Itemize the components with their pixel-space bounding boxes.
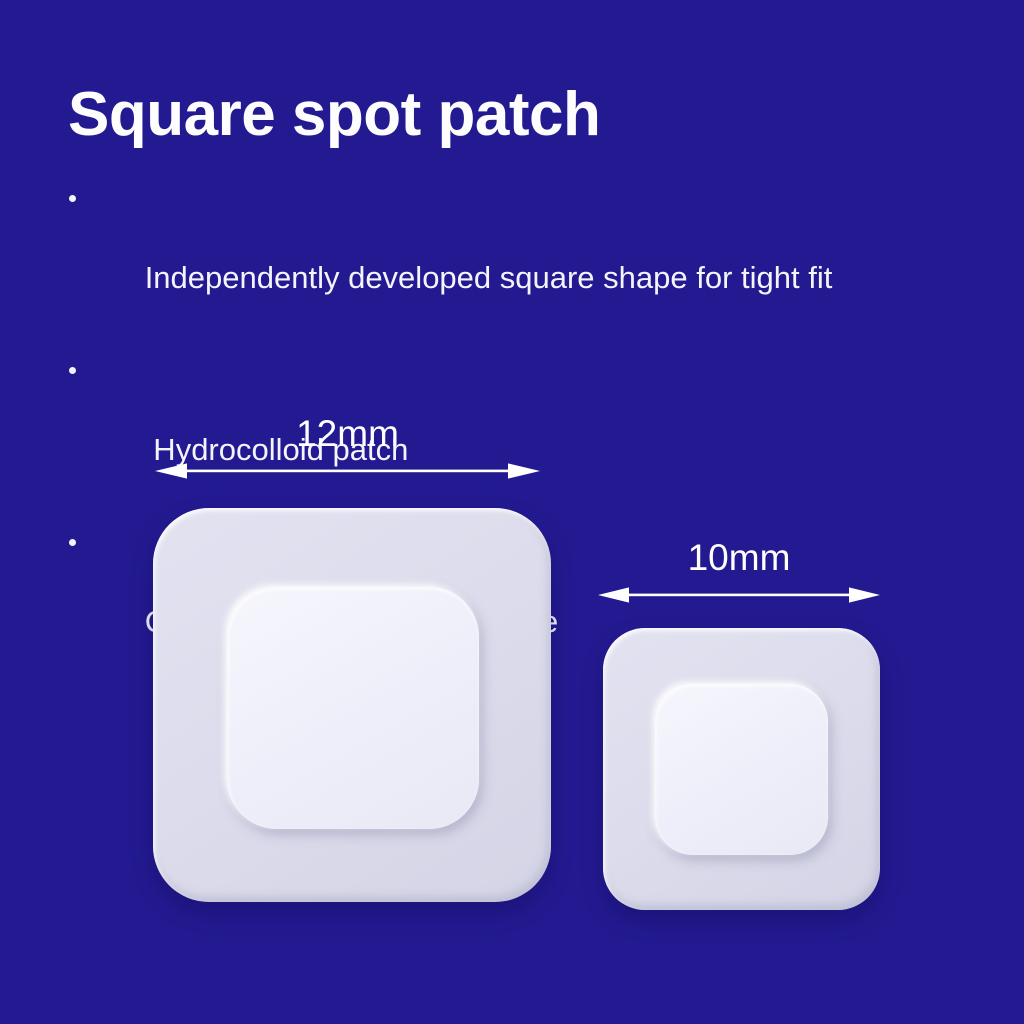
dimension-callout-small: 10mm	[598, 536, 880, 604]
dimension-callout-large: 12mm	[155, 412, 540, 480]
list-item: Independently developed square shape for…	[68, 178, 832, 338]
dimension-label: 10mm	[598, 536, 880, 580]
bullet-dot-icon	[69, 195, 76, 202]
page-title: Square spot patch	[68, 78, 600, 152]
patch-illustration-large	[153, 508, 551, 902]
patch-inner-layer	[655, 684, 828, 855]
patch-illustration-small	[603, 628, 880, 910]
feature-text: Independently developed square shape for…	[145, 260, 833, 295]
patch-inner-layer	[227, 587, 479, 829]
bullet-dot-icon	[69, 539, 76, 546]
product-infographic: Square spot patch Independently develope…	[0, 0, 1024, 1024]
double-headed-arrow-icon	[155, 462, 540, 480]
bullet-dot-icon	[69, 367, 76, 374]
double-headed-arrow-icon	[598, 586, 880, 604]
dimension-label: 12mm	[155, 412, 540, 456]
